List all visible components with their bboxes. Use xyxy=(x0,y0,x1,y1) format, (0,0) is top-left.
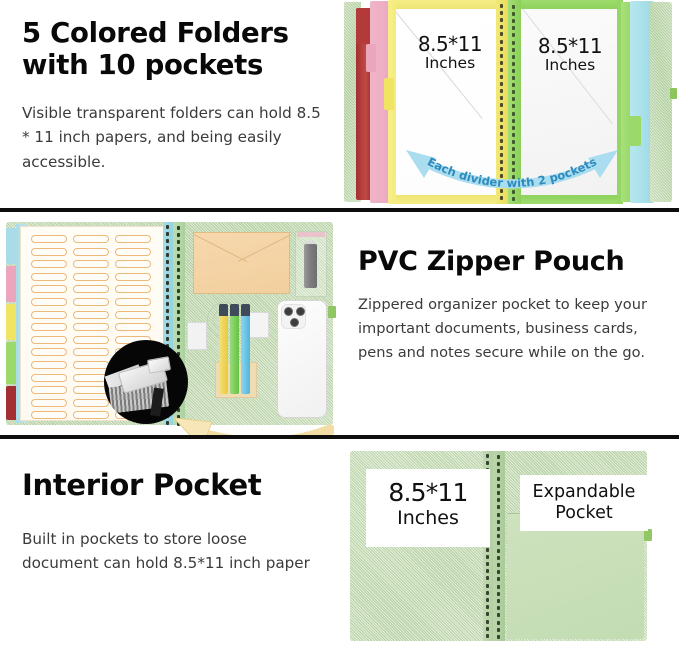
spiral-hole xyxy=(512,12,515,16)
page-size-label-left: 8.5*11 Inches xyxy=(406,32,494,72)
spiral-hole xyxy=(497,563,500,567)
spiral-hole xyxy=(497,635,500,639)
panel-1-headline: 5 Colored Folders with 10 pockets xyxy=(22,18,326,82)
spiral-hole xyxy=(177,233,180,237)
open-empty-binder-graphic: 8.5*11 Inches Expandable Pocket xyxy=(350,451,647,641)
binder-interior-graphic xyxy=(6,222,333,425)
spiral-hole xyxy=(512,5,515,9)
spiral-hole xyxy=(500,82,503,86)
spiral-hole xyxy=(497,491,500,495)
envelope xyxy=(193,232,290,294)
spiral-hole xyxy=(166,295,169,299)
label-slot xyxy=(31,399,67,407)
pen-green xyxy=(230,304,239,394)
spiral-hole xyxy=(512,48,515,52)
spiral-hole xyxy=(500,103,503,107)
pocket-top-green xyxy=(519,0,623,9)
panel-interior-pocket: Interior Pocket Built in pockets to stor… xyxy=(0,439,679,650)
spiral-hole xyxy=(500,75,503,79)
spiral-hole xyxy=(500,68,503,72)
spiral-hole xyxy=(500,111,503,115)
label-slot xyxy=(31,361,67,369)
usb-slot-top-trim xyxy=(297,232,325,237)
spiral-hole xyxy=(486,591,489,595)
spiral-hole xyxy=(486,620,489,624)
business-card xyxy=(247,312,269,338)
spiral-hole xyxy=(497,505,500,509)
label-slot xyxy=(31,235,67,243)
page-size-label-box: 8.5*11 Inches xyxy=(366,469,490,547)
spiral-hole xyxy=(177,268,180,272)
spiral-hole xyxy=(166,302,169,306)
spiral-hole xyxy=(512,104,515,108)
spiral-hole xyxy=(497,477,500,481)
spiral-hole xyxy=(497,484,500,488)
spiral-hole xyxy=(512,62,515,66)
camera-lens-1 xyxy=(284,307,293,316)
label-slot xyxy=(115,248,151,256)
elastic-closure-tab xyxy=(670,88,677,99)
panel-2-body: Zippered organizer pocket to keep your i… xyxy=(358,293,661,364)
label-slot xyxy=(73,348,109,356)
spiral-hole xyxy=(497,549,500,553)
spiral-hole xyxy=(497,606,500,610)
page-size-unit-right: Inches xyxy=(526,56,614,74)
spiral-hole xyxy=(166,260,169,264)
spiral-hole xyxy=(166,330,169,334)
spiral-hole xyxy=(497,498,500,502)
label-slot xyxy=(73,235,109,243)
spiral-hole xyxy=(177,275,180,279)
page-size-value: 8.5*11 xyxy=(366,478,490,507)
spiral-hole xyxy=(177,303,180,307)
label-slot-column xyxy=(73,235,109,424)
spiral-hole xyxy=(512,26,515,30)
spiral-hole xyxy=(500,11,503,15)
spiral-hole xyxy=(177,331,180,335)
usb-flash-drive xyxy=(304,244,317,288)
spiral-hole xyxy=(166,267,169,271)
expandable-pocket-label-box: Expandable Pocket xyxy=(520,475,648,531)
divider-tab-red xyxy=(356,8,369,44)
spiral-hole xyxy=(500,4,503,8)
infographic-page: 5 Colored Folders with 10 pockets Visibl… xyxy=(0,0,679,654)
spiral-hole xyxy=(500,54,503,58)
label-slot xyxy=(31,248,67,256)
label-slot xyxy=(115,273,151,281)
spiral-hole xyxy=(497,621,500,625)
expandable-pocket-panel xyxy=(507,513,644,639)
label-slot xyxy=(115,298,151,306)
spiral-hole xyxy=(500,32,503,36)
label-slot xyxy=(73,248,109,256)
label-slot xyxy=(73,411,109,419)
callout-text: Each divider with 2 pockets xyxy=(425,154,599,190)
divider-pockets-callout: Each divider with 2 pockets xyxy=(402,148,622,200)
pouch-contents-area xyxy=(185,226,329,421)
pen-tip-green xyxy=(230,304,239,316)
spiral-hole xyxy=(497,585,500,589)
label-slot-column xyxy=(31,235,67,424)
spiral-hole xyxy=(512,112,515,116)
label-slot xyxy=(73,273,109,281)
spiral-hole xyxy=(500,18,503,22)
page-size-value-right: 8.5*11 xyxy=(526,34,614,58)
pocket-top-yellow xyxy=(396,0,500,9)
zipper-pull-tab xyxy=(147,356,171,374)
panel-3-headline: Interior Pocket xyxy=(22,469,326,503)
panel-1-text-column: 5 Colored Folders with 10 pockets Visibl… xyxy=(0,0,340,208)
open-binder-graphic: 8.5*11 Inches 8.5*11 Inches xyxy=(344,0,676,204)
page-size-value-left: 8.5*11 xyxy=(406,32,494,56)
spiral-hole xyxy=(512,90,515,94)
spiral-hole xyxy=(177,345,180,349)
label-slot xyxy=(31,298,67,306)
spiral-hole xyxy=(486,634,489,638)
spiral-hole xyxy=(486,555,489,559)
spiral-hole xyxy=(497,541,500,545)
pen-tip-yellow xyxy=(219,304,228,316)
spiral-hole xyxy=(497,577,500,581)
label-slot xyxy=(31,323,67,331)
spiral-hole xyxy=(486,562,489,566)
spiral-hole xyxy=(166,288,169,292)
panel-1-headline-line1: 5 Colored Folders xyxy=(22,17,289,49)
pen-tip-blue xyxy=(241,304,250,316)
spiral-hole xyxy=(512,69,515,73)
label-slot xyxy=(31,386,67,394)
label-slot xyxy=(73,298,109,306)
arrow-curve xyxy=(210,430,330,435)
page-size-unit: Inches xyxy=(366,507,490,529)
spiral-hole xyxy=(166,337,169,341)
panel-1-body: Visible transparent folders can hold 8.5… xyxy=(22,101,326,175)
pen-blue xyxy=(241,304,250,394)
page-size-label-right: 8.5*11 Inches xyxy=(526,34,614,74)
page-size-unit-left: Inches xyxy=(406,54,494,72)
elastic-closure-tab xyxy=(328,306,336,318)
spiral-hole xyxy=(512,140,515,144)
spiral-hole xyxy=(512,133,515,137)
expandable-pocket-label-line1: Expandable xyxy=(533,482,636,502)
spiral-hole xyxy=(177,240,180,244)
label-slot xyxy=(115,235,151,243)
spiral-hole xyxy=(497,513,500,517)
spiral-hole xyxy=(497,570,500,574)
panel-3-image: 8.5*11 Inches Expandable Pocket xyxy=(340,439,679,650)
spiral-hole xyxy=(500,132,503,136)
business-card-left xyxy=(187,322,207,350)
spiral-hole xyxy=(500,139,503,143)
spiral-hole xyxy=(166,316,169,320)
spiral-hole xyxy=(497,455,500,459)
divider-tab-pink xyxy=(366,44,376,72)
spiral-hole xyxy=(497,628,500,632)
spiral-hole xyxy=(166,253,169,257)
envelope-flap xyxy=(194,233,291,263)
spiral-hole xyxy=(166,225,169,229)
spiral-hole xyxy=(512,33,515,37)
spiral-hole xyxy=(512,119,515,123)
panel-2-headline: PVC Zipper Pouch xyxy=(358,246,661,277)
spiral-hole xyxy=(497,592,500,596)
spiral-hole xyxy=(512,83,515,87)
spiral-hole xyxy=(500,89,503,93)
spiral-hole xyxy=(486,584,489,588)
pen-yellow xyxy=(219,304,228,394)
label-slot xyxy=(115,311,151,319)
spiral-hole xyxy=(500,61,503,65)
spiral-hole xyxy=(166,323,169,327)
label-slot xyxy=(73,260,109,268)
spiral-hole xyxy=(177,317,180,321)
label-slot xyxy=(73,323,109,331)
expandable-pocket-label-line2: Pocket xyxy=(555,503,612,523)
spiral-hole xyxy=(166,239,169,243)
spiral-hole xyxy=(177,247,180,251)
panel-3-text-column: Interior Pocket Built in pockets to stor… xyxy=(0,439,340,650)
spiral-hole xyxy=(500,47,503,51)
spiral-hole xyxy=(166,309,169,313)
spiral-hole xyxy=(177,226,180,230)
spiral-hole xyxy=(166,246,169,250)
binder-cover-right xyxy=(650,2,672,202)
spiral-hole xyxy=(497,527,500,531)
panel-1-headline-line2: with 10 pockets xyxy=(22,49,263,81)
panel-3-body: Built in pockets to store loose document… xyxy=(22,527,326,576)
spiral-hole xyxy=(497,462,500,466)
spiral-hole xyxy=(500,96,503,100)
panel-colored-folders: 5 Colored Folders with 10 pockets Visibl… xyxy=(0,0,679,208)
label-slot xyxy=(31,348,67,356)
spiral-hole xyxy=(497,534,500,538)
spiral-hole xyxy=(486,461,489,465)
label-slot xyxy=(115,285,151,293)
spiral-hole xyxy=(512,97,515,101)
spiral-hole xyxy=(486,612,489,616)
panel-1-image: 8.5*11 Inches 8.5*11 Inches xyxy=(340,0,679,208)
spiral-hole xyxy=(177,324,180,328)
spiral-hole xyxy=(497,469,500,473)
label-slot xyxy=(73,336,109,344)
label-slot xyxy=(31,311,67,319)
spiral-hole xyxy=(497,520,500,524)
spiral-hole xyxy=(500,40,503,44)
spiral-hole xyxy=(166,274,169,278)
label-slot xyxy=(31,411,67,419)
divider-tab-green xyxy=(630,116,641,146)
spiral-hole xyxy=(177,254,180,258)
spiral-hole xyxy=(166,232,169,236)
spiral-hole xyxy=(497,556,500,560)
spiral-hole xyxy=(486,548,489,552)
spiral-hole xyxy=(497,599,500,603)
divider-tab-yellow xyxy=(384,78,394,110)
label-slot xyxy=(115,260,151,268)
spiral-hole xyxy=(486,454,489,458)
spiral-hole xyxy=(486,569,489,573)
label-slot xyxy=(31,285,67,293)
spiral-hole xyxy=(500,25,503,29)
spiral-hole xyxy=(512,41,515,45)
panel-2-image xyxy=(0,212,340,435)
spiral-hole xyxy=(486,576,489,580)
label-slot xyxy=(31,374,67,382)
spiral-hole xyxy=(486,605,489,609)
spiral-hole xyxy=(177,338,180,342)
panel-2-text-column: PVC Zipper Pouch Zippered organizer pock… xyxy=(340,212,679,435)
spiral-hole xyxy=(497,613,500,617)
label-slot xyxy=(73,285,109,293)
label-slot xyxy=(31,273,67,281)
spiral-hole xyxy=(177,282,180,286)
spiral-hole xyxy=(177,310,180,314)
spiral-hole xyxy=(166,281,169,285)
spiral-hole xyxy=(512,19,515,23)
camera-lens-3 xyxy=(290,318,299,327)
spiral-hole xyxy=(177,296,180,300)
label-slot xyxy=(31,336,67,344)
label-slot xyxy=(73,399,109,407)
spiral-hole xyxy=(486,598,489,602)
label-slot xyxy=(73,361,109,369)
spiral-hole xyxy=(486,627,489,631)
label-slot xyxy=(115,323,151,331)
spiral-hole xyxy=(177,289,180,293)
spiral-hole xyxy=(512,76,515,80)
label-slot xyxy=(73,311,109,319)
label-slot xyxy=(31,260,67,268)
spiral-hole xyxy=(177,261,180,265)
spiral-hole xyxy=(512,55,515,59)
panel-pvc-zipper-pouch: PVC Zipper Pouch Zippered organizer pock… xyxy=(0,212,679,435)
spiral-hole xyxy=(500,118,503,122)
zoom-inset-pointer-arrow xyxy=(154,400,334,435)
arrowhead xyxy=(174,418,212,435)
camera-lens-2 xyxy=(296,307,305,316)
spiral-hole xyxy=(500,125,503,129)
spiral-hole xyxy=(512,126,515,130)
